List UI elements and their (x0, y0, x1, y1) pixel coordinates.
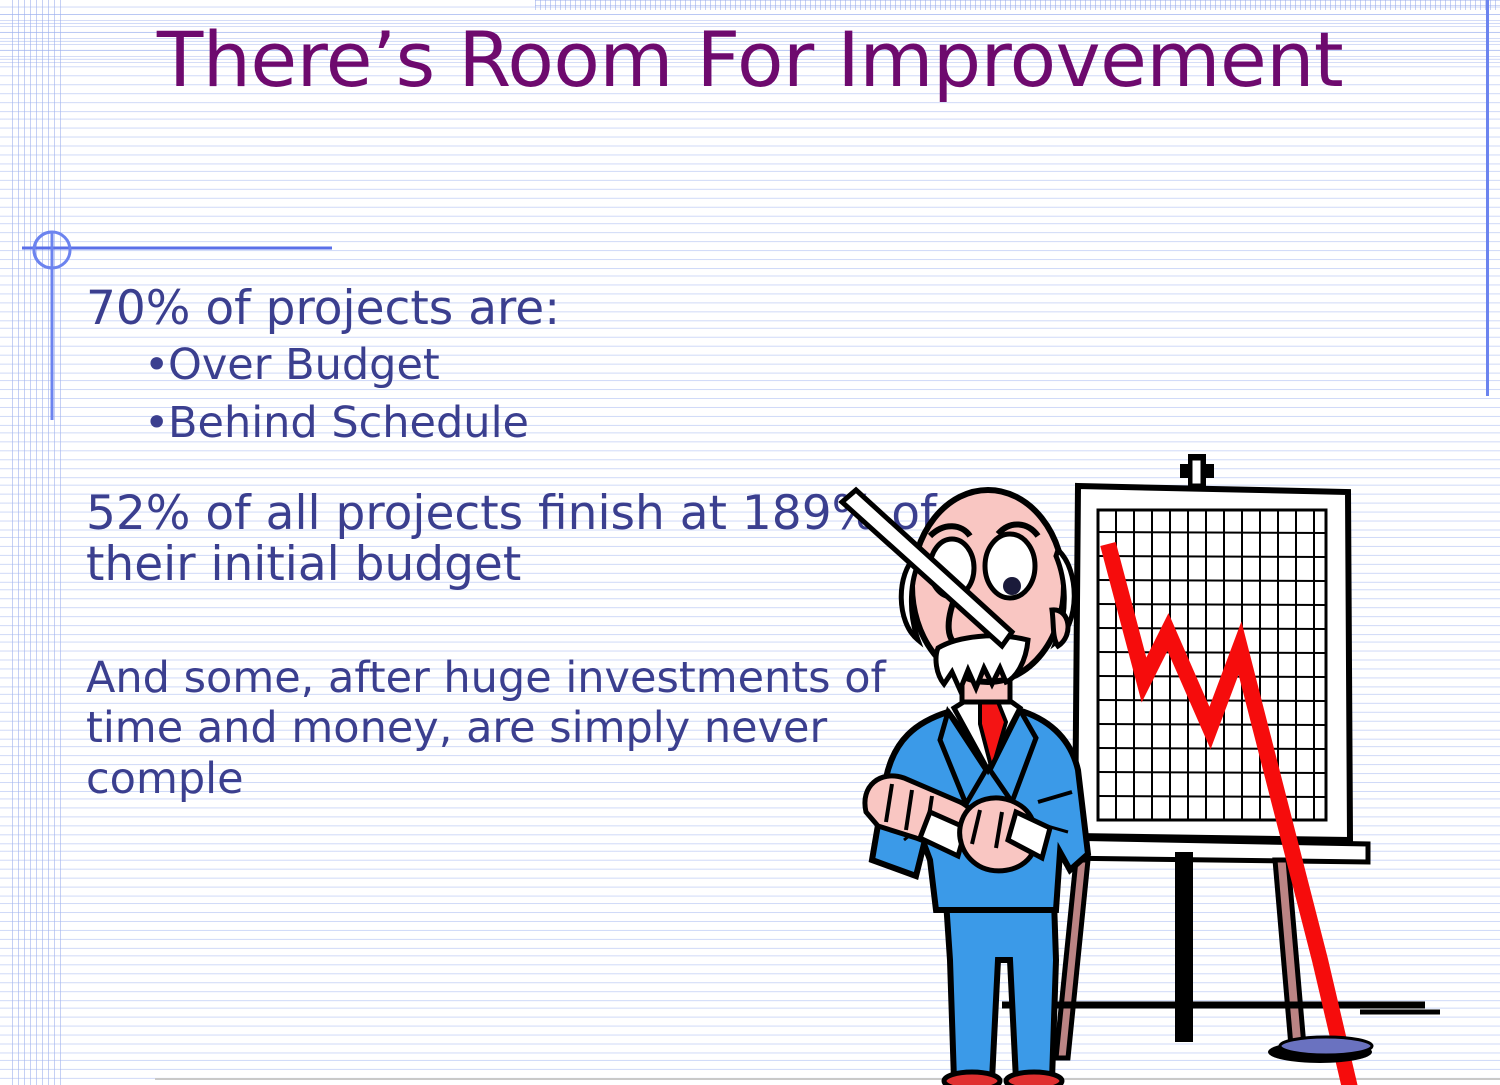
page-title: There’s Room For Improvement (0, 22, 1500, 98)
list-item: Over Budget (86, 337, 966, 394)
businessman-chart-illustration (820, 440, 1500, 1085)
bullet-list: Over Budget Behind Schedule (86, 337, 966, 451)
fallen-shoe-icon (1268, 1037, 1372, 1063)
graph-paper-top-band (535, 0, 1500, 10)
lead-line: 70% of projects are: (86, 284, 966, 333)
slide: There’s Room For Improvement 70% of proj… (0, 0, 1500, 1085)
